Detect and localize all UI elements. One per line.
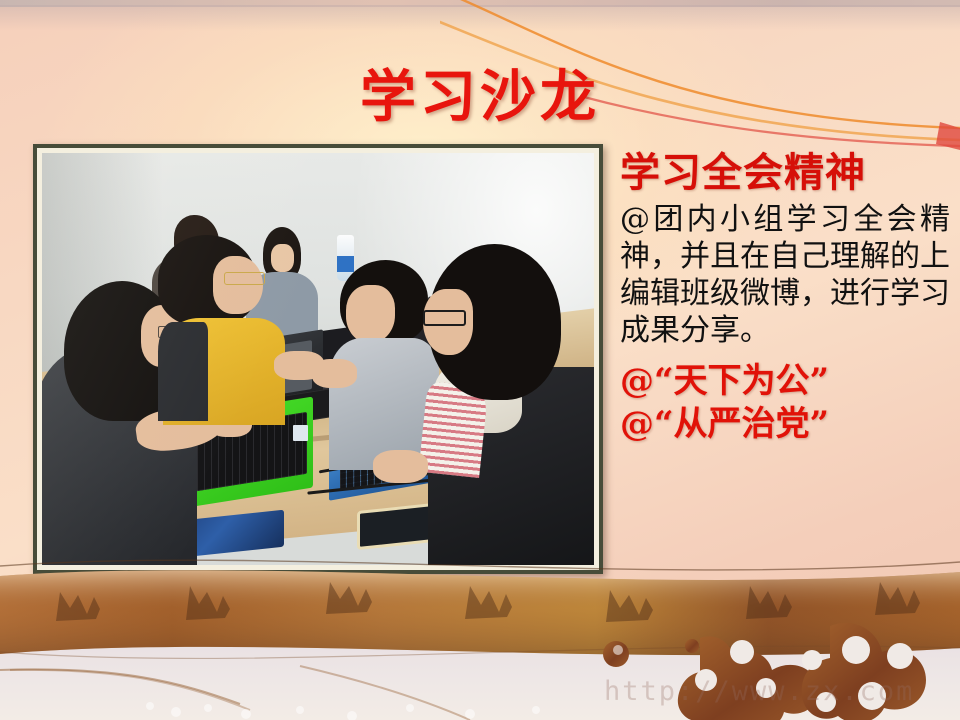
watermark-text: http://www.zx.com <box>604 676 914 707</box>
page-title: 学习沙龙 <box>0 52 960 133</box>
photo-mat <box>37 148 599 570</box>
text-panel: 学习全会精神 @团内小组学习全会精神，并且在自己理解的上编辑班级微博，进行学习成… <box>620 152 950 447</box>
text-panel-red-line-2: @“从严治党” <box>620 403 950 447</box>
text-panel-red-line-1: @“天下为公” <box>620 360 950 404</box>
photo-frame <box>33 144 603 574</box>
text-panel-body: @团内小组学习全会精神，并且在自己理解的上编辑班级微博，进行学习成果分享。 <box>620 202 950 350</box>
classroom-photo <box>42 153 594 565</box>
photo-light-wash <box>42 153 594 565</box>
top-haze-overlay <box>0 5 960 31</box>
text-panel-heading: 学习全会精神 <box>620 152 950 194</box>
slide-canvas: 学习沙龙 学习全会精神 @团内小组学习全会精神，并且在自己理解的上编辑班级微博，… <box>0 0 960 720</box>
